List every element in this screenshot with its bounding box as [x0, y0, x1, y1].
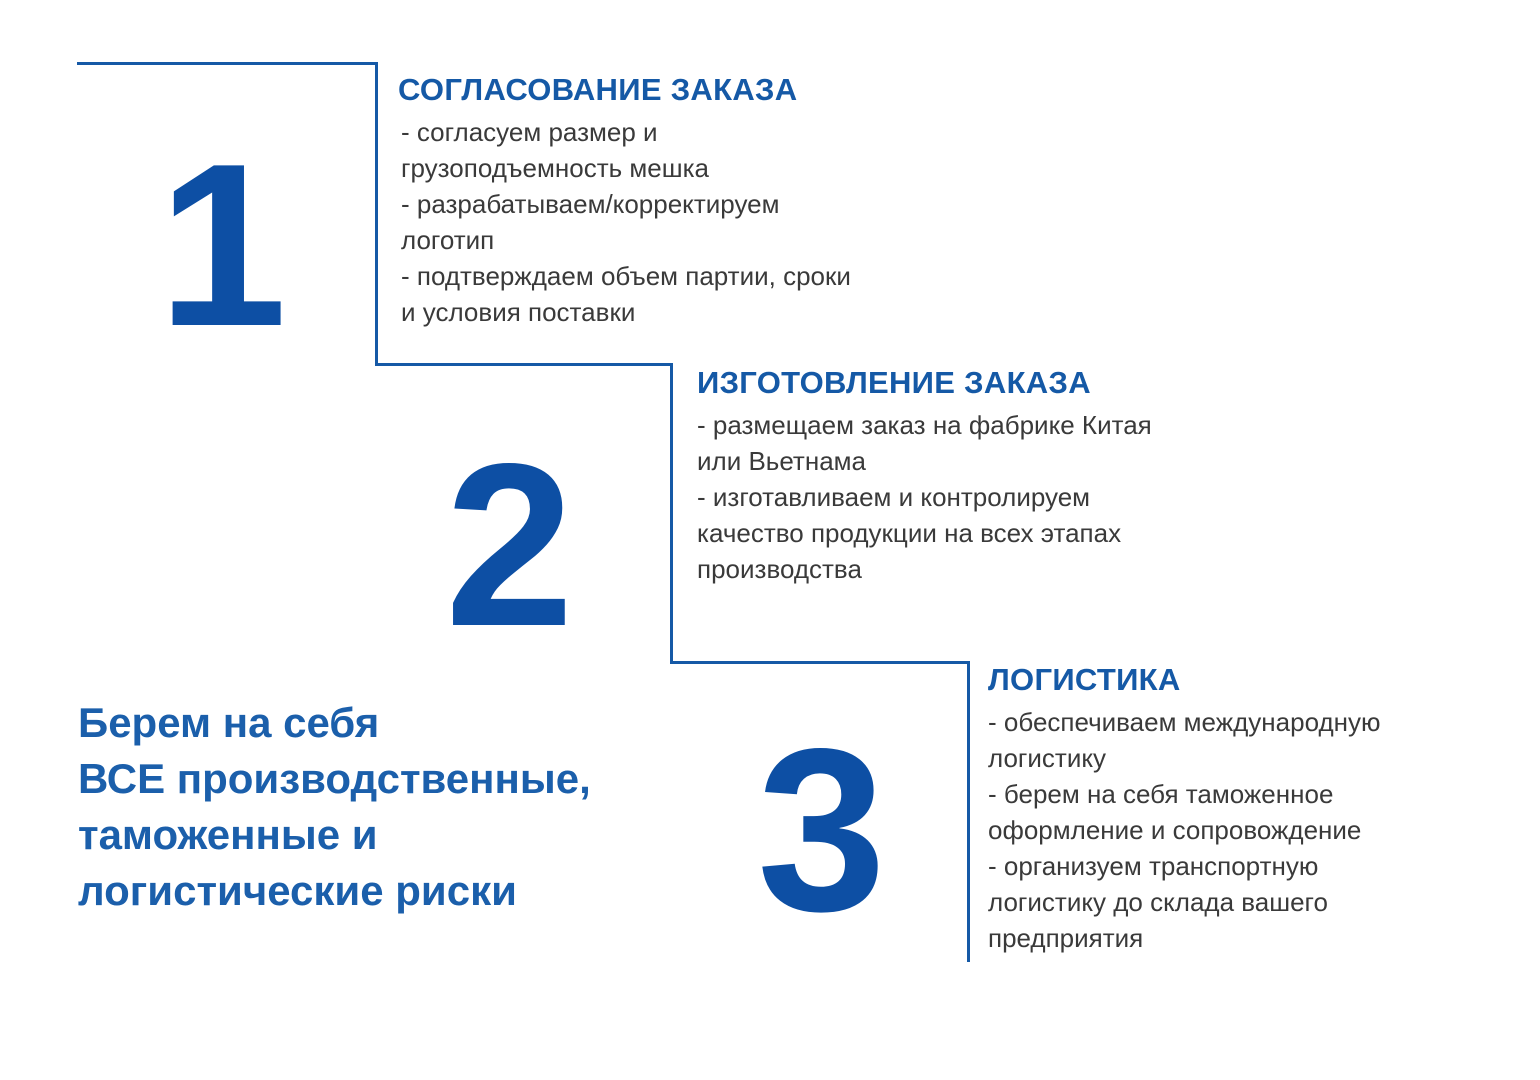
step1-line-2: грузоподъемность мешка [401, 150, 851, 186]
infographic-canvas: 1 2 3 СОГЛАСОВАНИЕ ЗАКАЗА - согласуем ра… [0, 0, 1540, 1080]
step-heading-1: СОГЛАСОВАНИЕ ЗАКАЗА [398, 72, 851, 108]
step1-line-1: - согласуем размер и [401, 114, 851, 150]
step1-line-3: - разрабатываем/корректируем [401, 186, 851, 222]
step2-line-1: - размещаем заказ на фабрике Китая [697, 407, 1152, 443]
step3-line-1: - обеспечиваем международную [988, 704, 1381, 740]
step2-line-2: или Вьетнама [697, 443, 1152, 479]
step3-line-5: - организуем транспортную [988, 848, 1381, 884]
step3-line-7: предприятия [988, 920, 1381, 956]
step1-line-6: и условия поставки [401, 294, 851, 330]
step-body-1: - согласуем размер и грузоподъемность ме… [398, 114, 851, 330]
step1-line-5: - подтверждаем объем партии, сроки [401, 258, 851, 294]
connector-line-step1-horizontal [77, 62, 378, 65]
step3-line-2: логистику [988, 740, 1381, 776]
tagline-line-4: логистические риски [78, 863, 591, 919]
step-block-2: ИЗГОТОВЛЕНИЕ ЗАКАЗА - размещаем заказ на… [697, 365, 1152, 587]
step3-line-3: - берем на себя таможенное [988, 776, 1381, 812]
tagline-line-2: ВСЕ производственные, [78, 751, 591, 807]
step2-line-5: производства [697, 551, 1152, 587]
step-heading-2: ИЗГОТОВЛЕНИЕ ЗАКАЗА [697, 365, 1152, 401]
step-numeral-2: 2 [445, 430, 572, 662]
summary-tagline: Берем на себя ВСЕ производственные, тамо… [78, 695, 591, 919]
step-block-1: СОГЛАСОВАНИЕ ЗАКАЗА - согласуем размер и… [398, 72, 851, 330]
connector-line-step2-vertical [670, 363, 673, 664]
connector-line-step1-vertical [375, 62, 378, 366]
connector-line-step2-horizontal [375, 363, 673, 366]
step1-line-4: логотип [401, 222, 851, 258]
step-numeral-3: 3 [757, 715, 884, 947]
step3-line-6: логистику до склада вашего [988, 884, 1381, 920]
tagline-line-1: Берем на себя [78, 695, 591, 751]
step-body-3: - обеспечиваем международную логистику -… [988, 704, 1381, 956]
step-heading-3: ЛОГИСТИКА [988, 662, 1381, 698]
tagline-line-3: таможенные и [78, 807, 591, 863]
connector-line-step3-vertical [967, 661, 970, 962]
connector-line-step3-horizontal [670, 661, 970, 664]
step-block-3: ЛОГИСТИКА - обеспечиваем международную л… [988, 662, 1381, 956]
step-numeral-1: 1 [158, 130, 285, 362]
step3-line-4: оформление и сопровождение [988, 812, 1381, 848]
step2-line-3: - изготавливаем и контролируем [697, 479, 1152, 515]
step2-line-4: качество продукции на всех этапах [697, 515, 1152, 551]
step-body-2: - размещаем заказ на фабрике Китая или В… [697, 407, 1152, 587]
